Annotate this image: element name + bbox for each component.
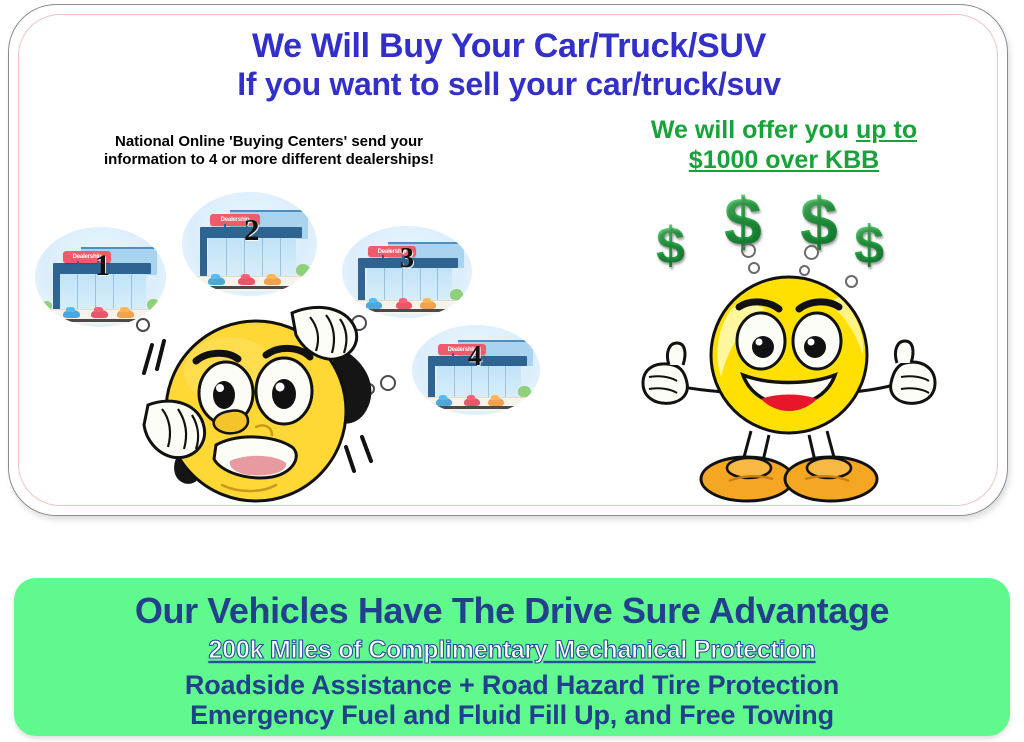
glass-mullion xyxy=(505,364,506,399)
car xyxy=(208,277,225,285)
dealership-bubble-number-3: 3 xyxy=(400,243,414,275)
bush xyxy=(296,264,310,276)
buying-centers-caption-line-2: information to 4 or more different deale… xyxy=(64,151,474,169)
sign-post xyxy=(77,261,79,267)
drive-sure-advantage-banner: Our Vehicles Have The Drive Sure Advanta… xyxy=(14,578,1010,736)
confused-smiley-icon xyxy=(134,295,389,505)
building-column xyxy=(53,267,60,311)
glass-mullion xyxy=(226,236,227,278)
glass-mullion xyxy=(420,266,421,302)
car xyxy=(420,301,436,309)
headline-line-2: If you want to sell your car/truck/suv xyxy=(9,65,1009,103)
offer-caption-prefix: We will offer you xyxy=(651,116,856,144)
dollar-sign-icon-1: $ xyxy=(656,220,685,272)
building-road xyxy=(424,406,528,409)
glass-mullion xyxy=(113,271,114,311)
car xyxy=(264,277,281,285)
offer-caption: We will offer you up to $1000 over KBB xyxy=(599,115,969,175)
dealership-bubble-number-1: 1 xyxy=(95,249,110,283)
car xyxy=(488,398,504,406)
glass-mullion xyxy=(437,266,438,302)
offer-caption-amount: $1000 over KBB xyxy=(689,146,879,174)
dealership-bubble-2: Dealership 2 xyxy=(182,192,317,296)
offer-caption-line-1: We will offer you up to xyxy=(599,115,969,145)
dealership-bubble-4: Dealership 4 xyxy=(412,325,540,415)
banner-benefit-line-2: Emergency Fuel and Fluid Fill Up, and Fr… xyxy=(14,700,1010,731)
dealership-bubble-number-4: 4 xyxy=(468,341,482,373)
promo-panel: We Will Buy Your Car/Truck/SUV If you wa… xyxy=(8,4,1008,516)
glass-mullion xyxy=(131,271,132,311)
offer-caption-upto: up to xyxy=(856,116,917,144)
glass-mullion xyxy=(454,364,455,399)
buying-centers-caption: National Online 'Buying Centers' send yo… xyxy=(64,133,474,169)
car xyxy=(436,398,452,406)
banner-benefit-line-1: Roadside Assistance + Road Hazard Tire P… xyxy=(14,670,1010,701)
car xyxy=(63,310,80,318)
bush xyxy=(518,386,531,397)
headline-line-1: We Will Buy Your Car/Truck/SUV xyxy=(9,27,1009,65)
sign-post xyxy=(382,255,384,261)
building-road xyxy=(194,286,306,289)
banner-headline: Our Vehicles Have The Drive Sure Advanta… xyxy=(14,590,1010,632)
glass-mullion xyxy=(77,271,78,311)
happy-smiley-character xyxy=(639,273,939,503)
car xyxy=(238,277,255,285)
dollar-sign-icon-4: $ xyxy=(854,218,884,272)
sign-post xyxy=(452,353,454,359)
thought-dot xyxy=(741,243,756,258)
happy-smiley-thumbs-up-icon xyxy=(639,273,939,503)
bush xyxy=(450,289,463,300)
banner-subheadline-text: 200k Miles of Complimentary Mechanical P… xyxy=(208,636,815,664)
glass-mullion xyxy=(280,236,281,278)
bush xyxy=(41,301,52,310)
building-column xyxy=(428,361,435,399)
offer-caption-line-2: $1000 over KBB xyxy=(599,145,969,175)
sign-post xyxy=(224,224,226,230)
building-column xyxy=(200,232,207,278)
confused-smiley-character xyxy=(134,295,389,505)
banner-subheadline: 200k Miles of Complimentary Mechanical P… xyxy=(14,635,1010,665)
car xyxy=(91,310,108,318)
glass-mullion xyxy=(262,236,263,278)
car xyxy=(117,310,134,318)
dealership-bubble-number-2: 2 xyxy=(244,212,260,248)
thought-dot xyxy=(804,245,819,260)
car xyxy=(464,398,480,406)
buying-centers-caption-line-1: National Online 'Buying Centers' send yo… xyxy=(64,133,474,151)
car xyxy=(396,301,412,309)
page-title: We Will Buy Your Car/Truck/SUV If you wa… xyxy=(9,27,1009,103)
glass-mullion xyxy=(488,364,489,399)
